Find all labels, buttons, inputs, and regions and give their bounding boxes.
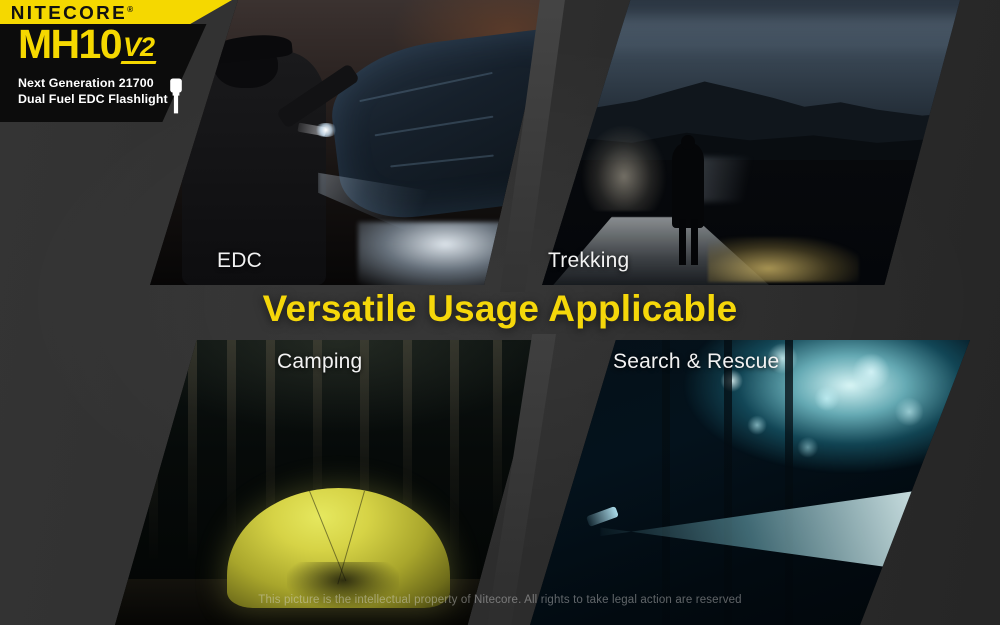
camping-tree-trunk [493,340,502,528]
product-tagline-line-1: Next Generation 21700 [18,76,168,92]
trekking-lit-grass [708,237,859,283]
brand-logo-block: NITECORE® MH10 V2 Next Generation 21700 … [0,0,232,122]
trekking-bare-tree [582,125,666,211]
sar-tree-trunk [724,340,732,625]
panel-label-trekking: Trekking [548,249,629,273]
trekking-hiker-body [672,143,704,229]
camping-tent-inner-shadow [287,562,399,608]
product-model-line: MH10 V2 [18,26,154,64]
product-model-name: MH10 [18,26,121,64]
panel-label-camping: Camping [277,350,362,374]
panel-label-edc: EDC [217,249,262,273]
sar-tree-trunk [662,340,670,625]
page-title: Versatile Usage Applicable [0,288,1000,330]
product-poster: NITECORE® MH10 V2 Next Generation 21700 … [0,0,1000,625]
camping-tree-trunk [188,340,197,562]
brand-wordmark-text: NITECORE [11,2,127,23]
panel-label-search-rescue: Search & Rescue [613,350,779,374]
usb-c-plug-icon [168,78,184,114]
edc-flashlight-glow [314,123,338,137]
trekking-hiker-leg [679,219,686,265]
product-tagline: Next Generation 21700 Dual Fuel EDC Flas… [18,76,168,107]
product-tagline-line-2: Dual Fuel EDC Flashlight [18,92,168,108]
camping-tree-trunk [450,340,459,562]
sar-tree-trunk [785,340,793,625]
product-version-badge: V2 [123,34,154,64]
trekking-hiker-leg [691,219,698,265]
registered-trademark-icon: ® [127,5,133,14]
camping-tree-trunk [227,340,236,540]
trekking-hiker-head [681,135,694,150]
